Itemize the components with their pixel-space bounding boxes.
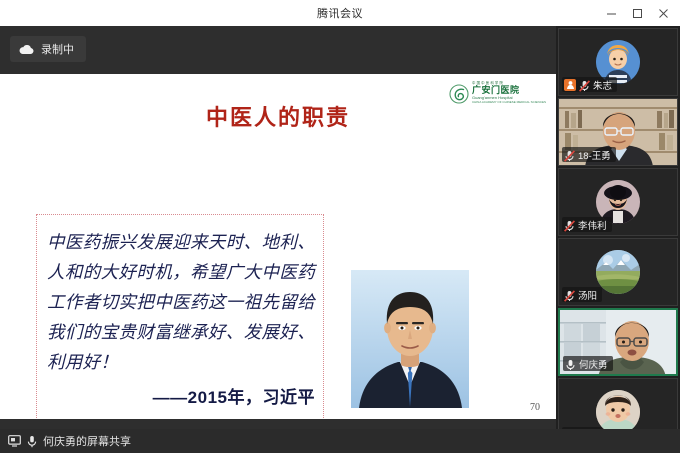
slide-page-number: 70 — [530, 402, 540, 413]
participant-name: 何庆勇 — [579, 357, 608, 371]
recording-indicator: 录制中 — [10, 36, 86, 62]
screen-share-icon — [8, 435, 21, 447]
participant-nametag: 汤阳 — [562, 287, 602, 302]
participant-rail: 朱志 — [556, 26, 680, 429]
participant-tile[interactable]: 朱志 — [558, 28, 678, 96]
microphone-icon — [565, 358, 576, 370]
avatar — [596, 390, 640, 434]
scenery-avatar — [596, 250, 640, 294]
participant-name: 汤阳 — [578, 288, 597, 302]
title-bar: 腾讯会议 — [0, 0, 680, 27]
participant-name: 朱志 — [593, 78, 612, 92]
portrait-photo — [351, 270, 469, 408]
recording-label: 录制中 — [41, 41, 74, 57]
participant-tile-active[interactable]: 何庆勇 — [558, 308, 678, 376]
window-title: 腾讯会议 — [317, 5, 363, 21]
baby-avatar — [596, 390, 640, 434]
shared-screen-stage: 录制中 中国中医科学院 广安门医院 Guang'anmen Hospital C… — [0, 26, 556, 453]
microphone-muted-icon — [564, 289, 575, 301]
screen-share-label: 何庆勇的屏幕共享 — [43, 433, 131, 449]
participant-tile[interactable]: 汤阳 — [558, 238, 678, 306]
host-badge-icon — [564, 79, 576, 91]
avatar — [596, 250, 640, 294]
participant-tile[interactable]: 李伟利 — [558, 168, 678, 236]
participant-tile[interactable]: 18-王勇 — [558, 98, 678, 166]
slide-title: 中医人的职责 — [0, 100, 556, 132]
microphone-muted-icon — [579, 79, 590, 91]
participant-name: 18-王勇 — [578, 148, 611, 162]
microphone-muted-icon — [564, 149, 575, 161]
quote-attribution: ——2015年，习近平 — [47, 383, 315, 408]
maximize-button[interactable] — [624, 0, 650, 26]
presentation-slide: 中国中医科学院 广安门医院 Guang'anmen Hospital CHINA… — [0, 74, 556, 419]
quote-box: 中医药振兴发展迎来天时、地利、人和的大好时机，希望广大中医药工作者切实把中医药这… — [36, 214, 324, 419]
portrait-illustration — [351, 270, 469, 408]
microphone-muted-icon — [564, 219, 575, 231]
cloud-icon — [19, 44, 34, 55]
participant-nametag: 李伟利 — [562, 217, 612, 232]
microphone-icon — [27, 435, 37, 448]
close-button[interactable] — [650, 0, 676, 26]
window-controls — [598, 0, 676, 26]
minimize-button[interactable] — [598, 0, 624, 26]
logo-line-2: 广安门医院 — [472, 86, 546, 95]
quote-text: 中医药振兴发展迎来天时、地利、人和的大好时机，希望广大中医药工作者切实把中医药这… — [47, 227, 315, 377]
participant-nametag: 18-王勇 — [562, 147, 616, 162]
status-bar: 何庆勇的屏幕共享 — [0, 429, 680, 453]
participant-name: 李伟利 — [578, 218, 607, 232]
participant-nametag: 朱志 — [562, 77, 617, 92]
participant-nametag: 何庆勇 — [563, 356, 613, 371]
tencent-meeting-window: 腾讯会议 录制中 — [0, 0, 680, 453]
